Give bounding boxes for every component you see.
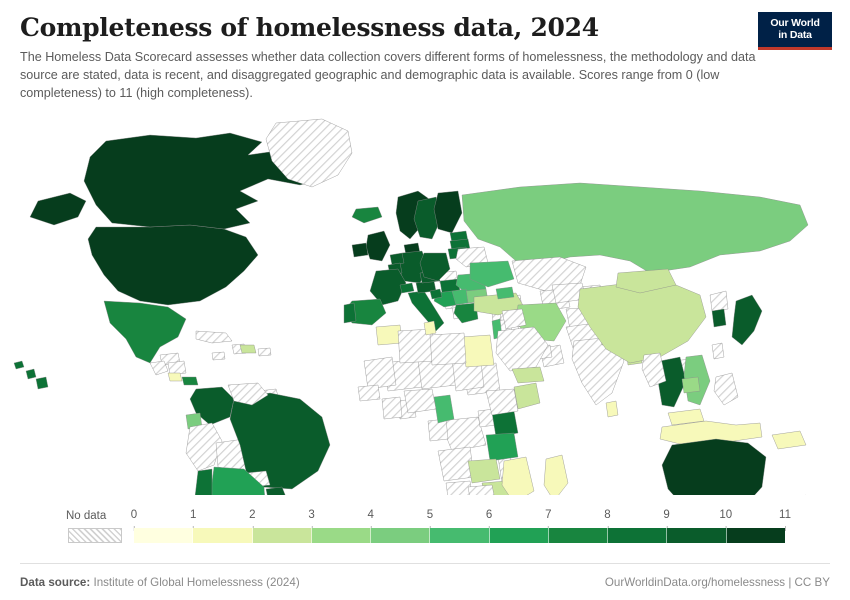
legend-tick-7: 7 [545, 509, 551, 521]
country-costa-rica[interactable]: Costa Rica: 1 [168, 373, 182, 381]
country-tanzania[interactable]: Tanzania: 7 [486, 433, 518, 461]
legend-bin-8[interactable] [608, 528, 667, 543]
country-jamaica[interactable]: Jamaica: No data [212, 352, 225, 360]
chart-header: Completeness of homelessness data, 2024 … [0, 0, 850, 103]
data-source-label: Data source: [20, 576, 90, 589]
legend-tick-3: 3 [308, 509, 314, 521]
country-panama[interactable]: Panama: 8 [182, 377, 198, 385]
country-myanmar[interactable]: Myanmar: No data [642, 353, 666, 387]
logo-line-2: in Data [778, 30, 812, 42]
country-mozambique[interactable]: Mozambique: 1 [502, 457, 534, 495]
country-ivorycoast[interactable]: IvoryCoast: No data [382, 397, 402, 419]
legend-bin-10[interactable] [727, 528, 785, 543]
country-tunisia[interactable]: Tunisia: 1 [424, 321, 436, 335]
legend-tick-9: 9 [663, 509, 669, 521]
legend-no-data-label: No data [66, 510, 106, 522]
country-japan[interactable]: Japan: 10 [732, 295, 762, 345]
country-senegal[interactable]: Senegal: No data [358, 385, 380, 401]
country-slovenia[interactable]: Slovenia: 9 [430, 289, 442, 299]
chart-subtitle: The Homeless Data Scorecard assesses whe… [20, 49, 762, 103]
country-cambodia[interactable]: Cambodia: 4 [682, 377, 700, 393]
country-switzerland[interactable]: Switzerland: 9 [400, 283, 414, 293]
legend-bin-9[interactable] [667, 528, 726, 543]
legend-bin-0[interactable] [134, 528, 193, 543]
country-somalia[interactable]: Somalia: 2 [514, 383, 540, 409]
country-georgia[interactable]: Georgia: 5 [496, 287, 514, 299]
chart-page: Completeness of homelessness data, 2024 … [0, 0, 850, 600]
country-ireland[interactable]: Ireland: 11 [352, 243, 368, 257]
legend-tick-10: 10 [719, 509, 732, 521]
country-united-kingdom[interactable]: United Kingdom: 11 [366, 231, 390, 261]
legend-tick-1: 1 [190, 509, 196, 521]
country-zambia[interactable]: Zambia: 2 [468, 459, 500, 483]
country-mauritania[interactable]: Mauritania: No data [364, 357, 396, 389]
world-map-svg[interactable]: Sudan: No dataDRCongo: No dataAngola: No… [0, 105, 850, 495]
legend-tick-2: 2 [249, 509, 255, 521]
country-cuba[interactable]: Cuba: No data [196, 331, 232, 343]
data-source: Data source: Institute of Global Homeles… [20, 576, 300, 589]
legend-bin-4[interactable] [371, 528, 430, 543]
legend-tick-5: 5 [427, 509, 433, 521]
country-portugal[interactable]: Portugal: 9 [344, 303, 356, 323]
logo-line-1: Our World [770, 18, 819, 30]
country-iceland[interactable]: Iceland: 8 [352, 207, 382, 223]
country-egypt[interactable]: Egypt: 1 [462, 335, 494, 367]
country-madagascar[interactable]: Madagascar: 1 [544, 455, 568, 495]
tick-mark [785, 526, 786, 531]
country-shapes[interactable]: Sudan: No dataDRCongo: No dataAngola: No… [14, 119, 812, 495]
country-cameroon[interactable]: Cameroon: 6 [434, 395, 454, 423]
country-sri-lanka[interactable]: Sri Lanka: 1 [606, 401, 618, 417]
owid-logo[interactable]: Our World in Data [758, 12, 832, 50]
legend-tick-0: 0 [131, 509, 137, 521]
page-title: Completeness of homelessness data, 2024 [20, 14, 830, 42]
chart-footer: Data source: Institute of Global Homeles… [20, 563, 830, 600]
legend-tick-6: 6 [486, 509, 492, 521]
country-nigeria[interactable]: Nigeria: No data [404, 389, 436, 413]
legend-color-ramp[interactable] [134, 528, 785, 543]
legend-tick-8: 8 [604, 509, 610, 521]
attribution[interactable]: OurWorldinData.org/homelessness | CC BY [605, 576, 830, 589]
country-south-korea[interactable]: South Korea: 10 [712, 309, 726, 327]
legend-ticks: 01234567891011 [134, 504, 785, 528]
legend-bin-2[interactable] [253, 528, 312, 543]
country-botswana[interactable]: Botswana: No data [468, 485, 496, 495]
country-northkorea[interactable]: NorthKorea: No data [710, 291, 728, 311]
legend-no-data-swatch[interactable] [68, 528, 122, 543]
legend-tick-11: 11 [779, 509, 791, 521]
legend-bin-7[interactable] [549, 528, 608, 543]
country-russia[interactable]: Russia: 5 [462, 183, 808, 273]
legend-bin-6[interactable] [490, 528, 549, 543]
data-source-value: Institute of Global Homelessness (2024) [93, 576, 299, 589]
legend-bin-3[interactable] [312, 528, 371, 543]
country-finland[interactable]: Finland: 11 [434, 191, 462, 233]
country-puertorico[interactable]: PuertoRico: No data [258, 348, 271, 356]
country-netherlands[interactable]: Netherlands: 10 [390, 253, 404, 265]
country-yemen[interactable]: Yemen: 2 [512, 367, 544, 383]
map-legend: No data 01234567891011 [0, 504, 850, 554]
country-libya[interactable]: Libya: No data [430, 333, 466, 365]
legend-tick-4: 4 [368, 509, 374, 521]
country-hawaii[interactable]: Hawaii: 11 [14, 361, 48, 389]
country-philippines[interactable]: Philippines: No data [714, 373, 738, 405]
legend-bin-1[interactable] [193, 528, 252, 543]
legend-bin-5[interactable] [430, 528, 489, 543]
country-australia[interactable]: Australia: 11 [662, 439, 766, 495]
country-taiwan[interactable]: Taiwan: No data [712, 343, 724, 359]
country-papua-new-guinea[interactable]: Papua New Guinea: 1 [772, 431, 806, 449]
country-dominican-republic[interactable]: Dominican Republic: 2 [240, 345, 256, 353]
